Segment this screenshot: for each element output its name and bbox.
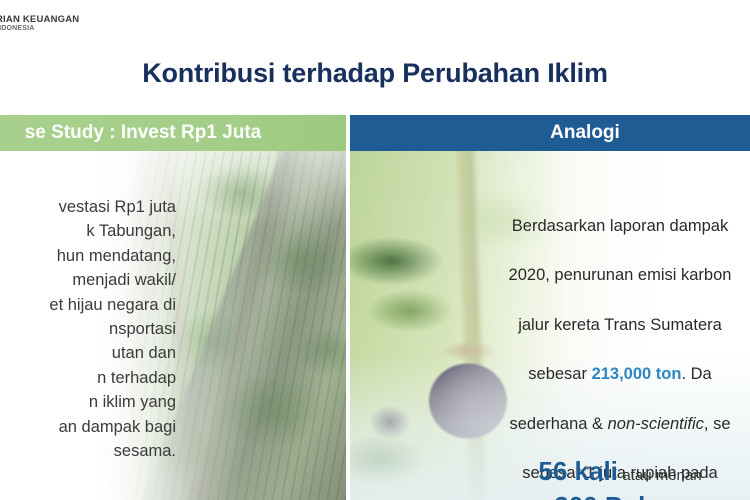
left-panel-body: vestasi Rp1 juta k Tabungan, hun mendata…: [0, 151, 346, 500]
right-text-line4-pre: sebesar: [528, 365, 591, 383]
left-panel-header: se Study : Invest Rp1 Juta: [0, 115, 346, 151]
ministry-name-line2: NDONESIA: [0, 25, 79, 33]
highlight-line-trips: 56 kali atau menan: [420, 456, 750, 487]
right-panel-text: Berdasarkan laporan dampak 2020, penurun…: [420, 189, 750, 500]
right-text-line5-post: , se: [704, 415, 731, 433]
right-text-line5-pre: sederhana &: [509, 415, 607, 433]
emission-value-highlight: 213,000 ton: [592, 365, 682, 383]
ministry-logo: RIAN KEUANGAN NDONESIA: [0, 6, 79, 42]
right-text-line2: 2020, penurunan emisi karbon: [509, 266, 732, 284]
trips-count: 56 kali: [538, 456, 618, 486]
right-text-line4-post: . Da: [681, 365, 711, 383]
right-panel-analogi: Analogi Berdasarkan laporan dampak 2020,…: [350, 115, 750, 500]
right-panel-header: Analogi: [350, 115, 750, 151]
left-panel-text: vestasi Rp1 juta k Tabungan, hun mendata…: [0, 195, 176, 463]
logo-band: RIAN KEUANGAN NDONESIA: [0, 0, 750, 48]
non-scientific-italic: non-scientific: [608, 415, 704, 433]
right-panel-body: Berdasarkan laporan dampak 2020, penurun…: [350, 151, 750, 500]
page-title: Kontribusi terhadap Perubahan Iklim: [0, 58, 750, 89]
highlight-line-trees: 200 Pohon: [420, 491, 750, 500]
trips-tail-text: atau menan: [622, 467, 701, 484]
trees-count: 200 Pohon: [554, 491, 685, 500]
left-panel-case-study: se Study : Invest Rp1 Juta vestasi Rp1 j…: [0, 115, 346, 500]
ministry-logo-text: RIAN KEUANGAN NDONESIA: [0, 15, 79, 34]
presentation-slide: RIAN KEUANGAN NDONESIA Kontribusi terhad…: [0, 0, 750, 500]
right-text-line1: Berdasarkan laporan dampak: [512, 217, 728, 235]
ministry-name-line1: RIAN KEUANGAN: [0, 15, 79, 26]
right-text-line3: jalur kereta Trans Sumatera: [518, 316, 722, 334]
